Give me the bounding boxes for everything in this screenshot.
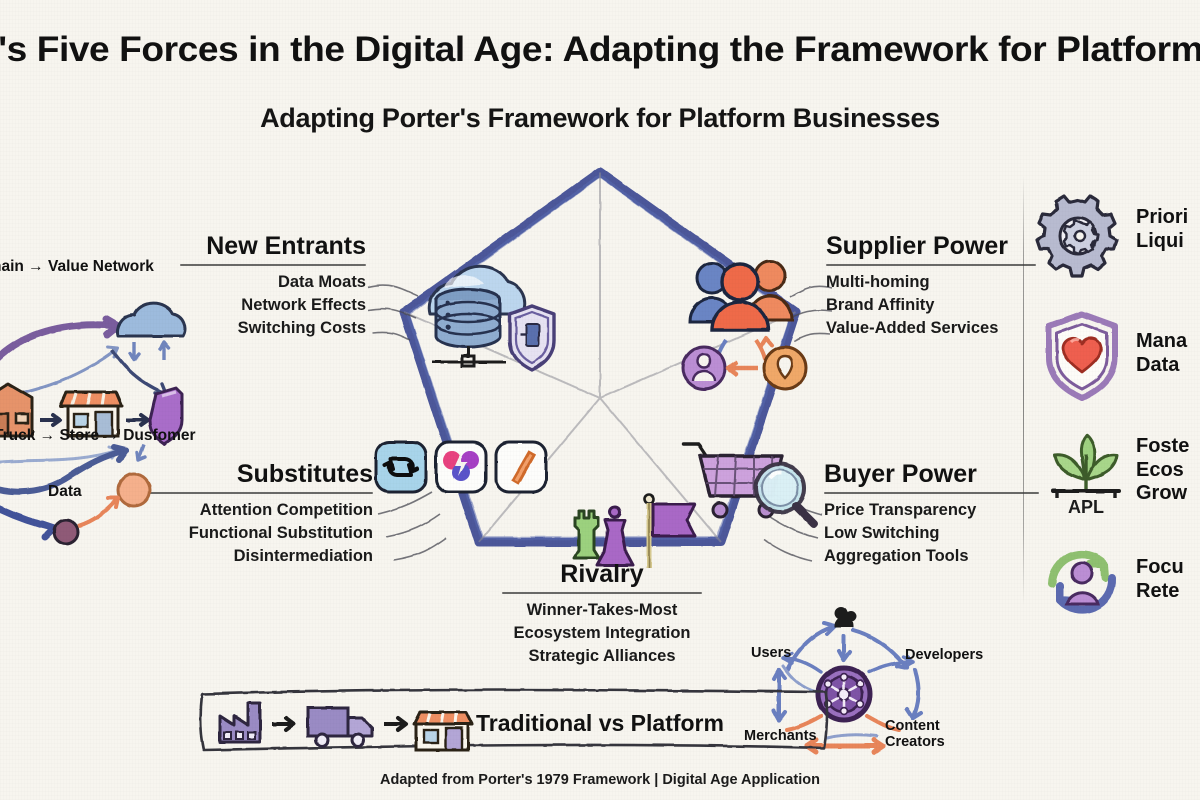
app-tiles-icon bbox=[373, 438, 553, 500]
force-buyer-power: Buyer Power Price Transparency Low Switc… bbox=[824, 462, 1039, 567]
right-panel-line: Ecos bbox=[1136, 459, 1189, 483]
force-item: Winner-Takes-Most bbox=[480, 599, 724, 622]
right-panel-line: Mana bbox=[1136, 330, 1187, 354]
right-panel-item-focus-retention[interactable]: Focu Rete bbox=[1040, 540, 1126, 625]
right-panel-item-prioritize[interactable]: Priori Liqui bbox=[1038, 196, 1118, 281]
right-panel-label: Mana Data bbox=[1136, 330, 1187, 377]
right-panel-line: Focu bbox=[1136, 556, 1184, 580]
right-panel-label: Foste Ecos Grow bbox=[1136, 435, 1189, 506]
force-supplier-power: Supplier Power Multi-homing Brand Affini… bbox=[826, 234, 1036, 339]
network-node-developers: Developers bbox=[905, 647, 983, 664]
right-panel-line: Grow bbox=[1136, 482, 1189, 506]
force-heading: Supplier Power bbox=[826, 234, 1036, 259]
right-panel-line: Foste bbox=[1136, 435, 1189, 459]
value-network-diagram bbox=[0, 290, 230, 560]
network-node-users: Users bbox=[751, 645, 791, 662]
heading-rule bbox=[826, 264, 1036, 266]
heading-rule bbox=[502, 592, 702, 594]
supply-chain-icons bbox=[220, 703, 472, 750]
force-item: Aggregation Tools bbox=[824, 545, 1039, 568]
force-heading: Rivalry bbox=[480, 562, 724, 587]
left-panel-chain-label: Truck → Store → Dusfomer bbox=[0, 427, 196, 445]
force-heading: New Entrants bbox=[180, 234, 366, 259]
footer-caption: Adapted from Porter's 1979 Framework | D… bbox=[0, 772, 1200, 788]
gear-icon bbox=[1038, 196, 1118, 276]
right-panel-line: Rete bbox=[1136, 580, 1184, 604]
refresh-user-icon bbox=[1040, 540, 1126, 620]
people-group-icon bbox=[672, 250, 842, 395]
force-item: Low Switching bbox=[824, 522, 1039, 545]
force-item: Ecosystem Integration bbox=[480, 622, 724, 645]
heading-rule bbox=[180, 264, 366, 266]
right-panel-label: Priori Liqui bbox=[1136, 206, 1188, 253]
left-panel-title: hain → Value Network bbox=[0, 258, 154, 276]
heading-rule bbox=[824, 492, 1039, 494]
right-panel-label: Focu Rete bbox=[1136, 556, 1184, 603]
right-panel-item-manage-data[interactable]: Mana Data bbox=[1043, 310, 1121, 405]
network-node-content-creators: Content Creators bbox=[885, 719, 951, 751]
right-panel-line: Liqui bbox=[1136, 230, 1188, 254]
force-item: Brand Affinity bbox=[826, 294, 1036, 317]
left-panel-data-label: Data bbox=[48, 483, 82, 501]
api-badge-text: APL bbox=[1068, 497, 1104, 517]
banner-label: Traditional vs Platform bbox=[470, 710, 730, 737]
content-creators-line1: Content Creators bbox=[885, 719, 951, 751]
force-item: Value-Added Services bbox=[826, 317, 1036, 340]
right-panel-line: Data bbox=[1136, 354, 1187, 378]
cloud-database-shield-icon bbox=[398, 258, 578, 388]
right-panel-item-foster-ecosystem[interactable]: APL Foste Ecos Grow bbox=[1043, 425, 1131, 520]
force-rivalry: Rivalry Winner-Takes-Most Ecosystem Inte… bbox=[480, 562, 724, 667]
force-heading: Buyer Power bbox=[824, 462, 1039, 487]
plant-api-icon: APL bbox=[1043, 425, 1131, 515]
right-panel-line: Priori bbox=[1136, 206, 1188, 230]
shield-heart-icon bbox=[1043, 310, 1121, 400]
force-item: Multi-homing bbox=[826, 271, 1036, 294]
force-item: Strategic Alliances bbox=[480, 645, 724, 668]
force-item: Price Transparency bbox=[824, 499, 1039, 522]
